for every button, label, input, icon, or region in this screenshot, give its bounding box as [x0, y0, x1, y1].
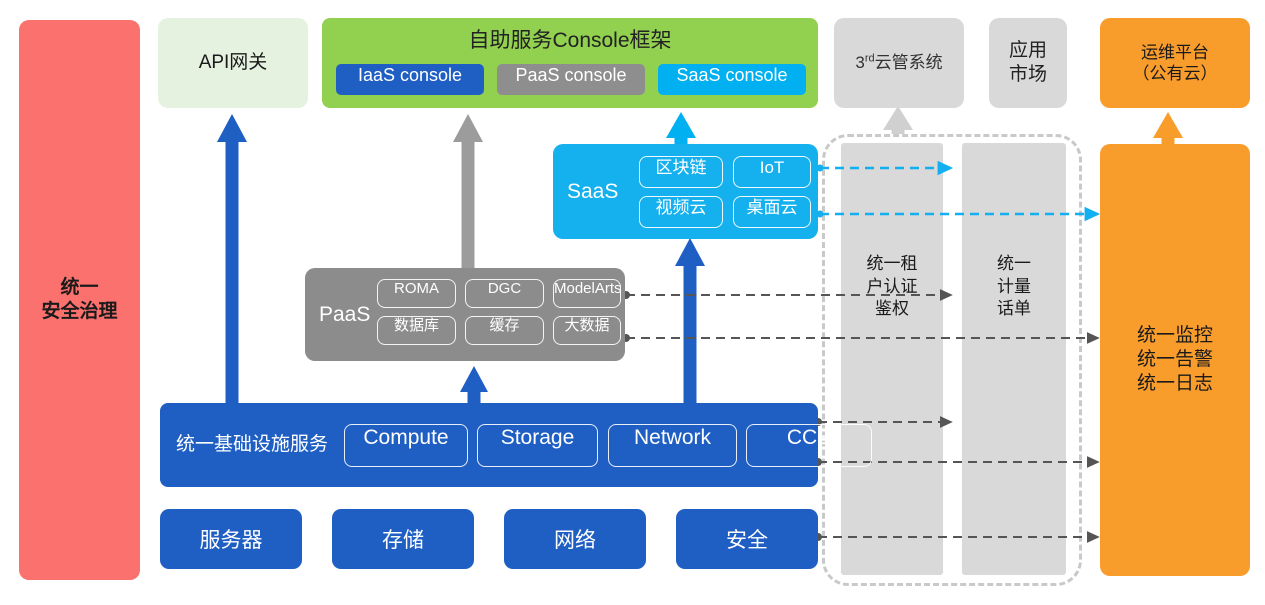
ops-platform-box[interactable]: 运维平台 （公有云） — [1100, 18, 1250, 108]
paas-service-cache[interactable]: 缓存 — [465, 316, 544, 345]
meter-line3: 话单 — [997, 299, 1031, 318]
third-cloud-prefix: 3 — [855, 53, 864, 72]
meter-line1: 统一 — [997, 254, 1031, 273]
security-governance-column[interactable]: 统一 安全治理 — [19, 20, 140, 580]
paas-service-database[interactable]: 数据库 — [377, 316, 456, 345]
arrow-saas-to-console — [666, 112, 696, 144]
arrow-paas-to-console — [453, 114, 483, 268]
saas-service-video-cloud[interactable]: 视频云 — [639, 196, 723, 228]
hardware-network-box[interactable]: 网络 — [504, 509, 646, 569]
arrow-infra-to-saas — [675, 238, 705, 403]
infra-service-compute[interactable]: Compute — [344, 424, 468, 467]
ops-monitoring-column[interactable]: 统一监控 统一告警 统一日志 — [1100, 144, 1250, 576]
saas-layer-box[interactable]: SaaS 区块链 IoT 视频云 桌面云 — [553, 144, 818, 239]
auth-line3: 鉴权 — [875, 299, 909, 318]
infrastructure-label: 统一基础设施服务 — [176, 433, 328, 457]
saas-label: SaaS — [567, 178, 618, 204]
paas-service-roma[interactable]: ROMA — [377, 279, 456, 308]
arrow-opscolumn-to-opsplatform — [1153, 112, 1183, 144]
auth-line2: 户认证 — [867, 277, 918, 296]
shared-service-auth-column: 统一租 户认证 鉴权 — [841, 143, 943, 575]
paas-label: PaaS — [319, 301, 370, 327]
infra-service-storage[interactable]: Storage — [477, 424, 598, 467]
paas-service-modelarts[interactable]: ModelArts — [553, 279, 621, 308]
infra-service-network[interactable]: Network — [608, 424, 737, 467]
hardware-storage-box[interactable]: 存储 — [332, 509, 474, 569]
api-gateway-box[interactable]: API网关 — [158, 18, 308, 108]
security-line2: 安全治理 — [41, 301, 117, 322]
security-line1: 统一 — [60, 277, 98, 298]
saas-console-pill[interactable]: SaaS console — [658, 64, 806, 95]
paas-service-bigdata[interactable]: 大数据 — [553, 316, 621, 345]
ops-col-line2: 统一告警 — [1137, 349, 1213, 370]
shared-service-metering-column: 统一 计量 话单 — [962, 143, 1066, 575]
saas-service-iot[interactable]: IoT — [733, 156, 811, 188]
hardware-server-box[interactable]: 服务器 — [160, 509, 302, 569]
saas-service-blockchain[interactable]: 区块链 — [639, 156, 723, 188]
hardware-security-box[interactable]: 安全 — [676, 509, 818, 569]
third-cloud-suffix: 云管系统 — [875, 53, 943, 72]
ops-platform-line1: 运维平台 — [1141, 43, 1209, 62]
app-market-box[interactable]: 应用 市场 — [989, 18, 1067, 108]
saas-service-desktop-cloud[interactable]: 桌面云 — [733, 196, 811, 228]
third-cloud-sup: rd — [865, 53, 875, 65]
console-framework-box[interactable]: 自助服务Console框架 IaaS console PaaS console … — [322, 18, 818, 108]
ops-col-line1: 统一监控 — [1137, 325, 1213, 346]
third-party-cloud-mgmt-box[interactable]: 3rd云管系统 — [834, 18, 964, 108]
arrow-infra-to-paas — [460, 366, 488, 403]
api-gateway-label: API网关 — [199, 51, 268, 75]
infrastructure-layer-box[interactable]: 统一基础设施服务 Compute Storage Network CCE — [160, 403, 818, 487]
paas-layer-box[interactable]: PaaS ROMA DGC ModelArts 数据库 缓存 大数据 — [305, 268, 625, 361]
console-framework-title: 自助服务Console框架 — [322, 28, 818, 54]
paas-service-dgc[interactable]: DGC — [465, 279, 544, 308]
arrow-shared-to-third-cloud — [883, 106, 913, 134]
ops-platform-line2: （公有云） — [1133, 64, 1218, 83]
app-market-line2: 市场 — [1009, 64, 1047, 85]
auth-line1: 统一租 — [867, 254, 918, 273]
paas-console-pill[interactable]: PaaS console — [497, 64, 645, 95]
meter-line2: 计量 — [997, 277, 1031, 296]
arrow-infra-to-api-gateway — [217, 114, 247, 403]
iaas-console-pill[interactable]: IaaS console — [336, 64, 484, 95]
architecture-diagram: 统一租 户认证 鉴权 统一 计量 话单 — [0, 0, 1265, 605]
app-market-line1: 应用 — [1009, 40, 1047, 61]
infra-service-cce[interactable]: CCE — [746, 424, 872, 467]
ops-col-line3: 统一日志 — [1137, 373, 1213, 394]
